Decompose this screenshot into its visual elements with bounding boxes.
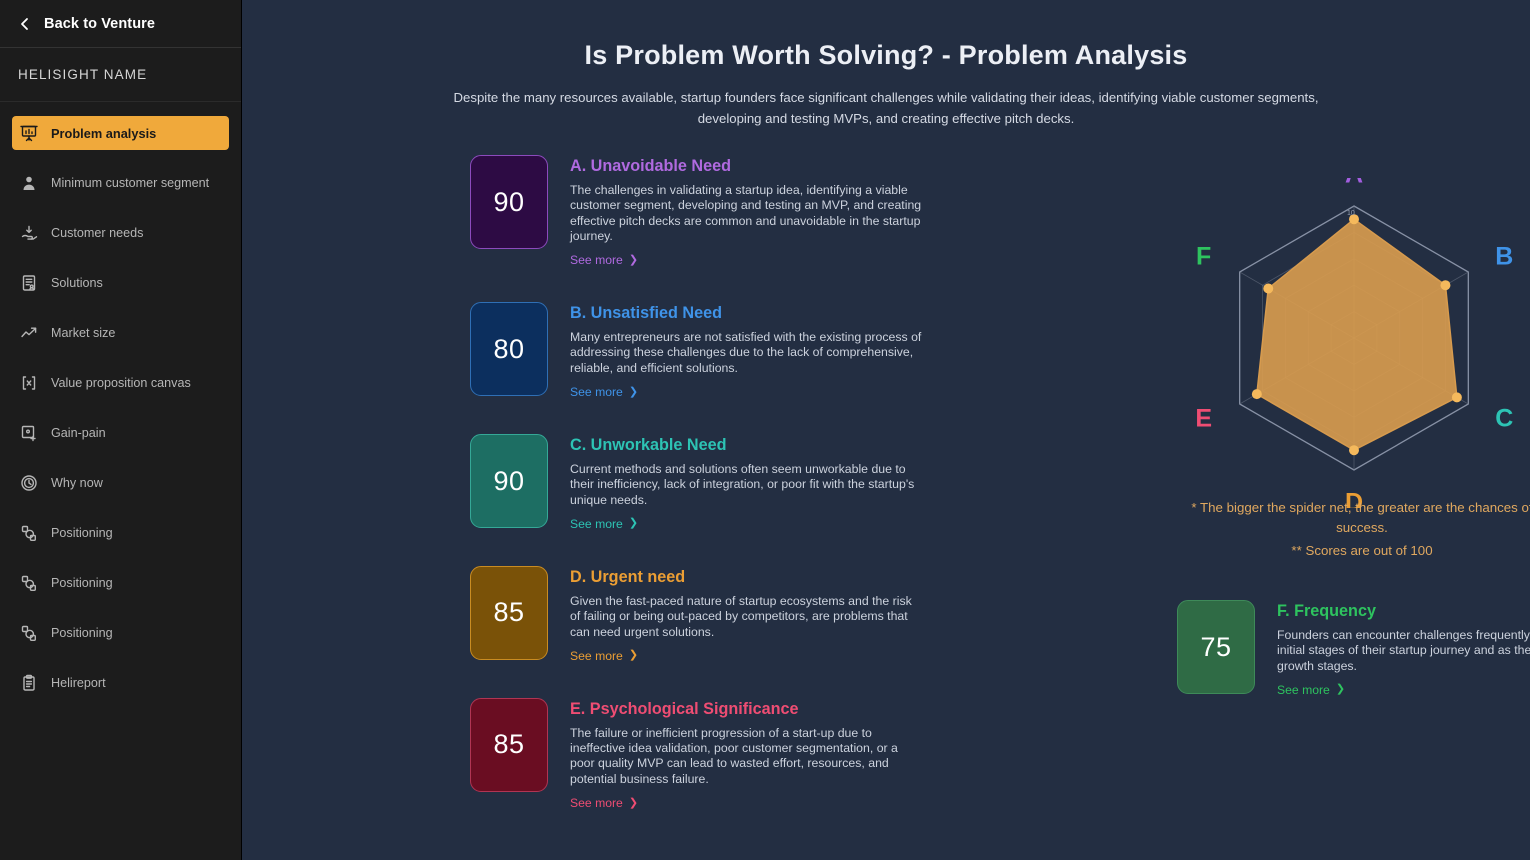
radar-point-c	[1452, 392, 1462, 402]
card-body: A. Unavoidable NeedThe challenges in val…	[570, 155, 922, 269]
square-plus-icon	[20, 424, 38, 442]
card-title: A. Unavoidable Need	[570, 157, 922, 176]
see-more-link-a[interactable]: See more❯	[570, 253, 638, 267]
sidebar-item-label: Why now	[51, 476, 103, 490]
sidebar: Back to Venture HELISIGHT NAME Problem a…	[0, 0, 242, 860]
sidebar-item-customer-needs[interactable]: Customer needs	[12, 216, 229, 250]
radar-axis-label-c: C	[1495, 405, 1513, 433]
sidebar-item-helireport[interactable]: Helireport	[12, 666, 229, 700]
card-title: D. Urgent need	[570, 568, 922, 587]
see-more-link-d[interactable]: See more❯	[570, 649, 638, 663]
shapes-icon	[20, 524, 38, 542]
chevron-right-icon: ❯	[629, 255, 638, 266]
see-more-link-f[interactable]: See more❯	[1277, 683, 1345, 697]
score-badge-f: 75	[1177, 600, 1255, 694]
shapes-icon	[20, 624, 38, 642]
sidebar-item-label: Value proposition canvas	[51, 376, 191, 390]
chevron-right-icon: ❯	[629, 650, 638, 661]
clipboard-icon	[20, 674, 38, 692]
main-panel: Is Problem Worth Solving? - Problem Anal…	[242, 0, 1530, 860]
see-more-link-e[interactable]: See more❯	[570, 796, 638, 810]
sidebar-item-market-size[interactable]: Market size	[12, 316, 229, 350]
trend-up-arrow-icon	[20, 324, 38, 342]
sidebar-item-label: Positioning	[51, 576, 113, 590]
see-more-label: See more	[570, 385, 623, 399]
card-description: The failure or inefficient progression o…	[570, 726, 922, 787]
card-body: B. Unsatisfied NeedMany entrepreneurs ar…	[570, 302, 922, 401]
see-more-label: See more	[1277, 683, 1330, 697]
see-more-link-b[interactable]: See more❯	[570, 385, 638, 399]
problem-card-f: 75F. FrequencyFounders can encounter cha…	[1177, 600, 1530, 699]
sidebar-item-label: Market size	[51, 326, 115, 340]
chevron-left-icon	[18, 17, 32, 31]
score-badge-e: 85	[470, 698, 548, 792]
card-title: F. Frequency	[1277, 602, 1530, 621]
sidebar-item-label: Minimum customer segment	[51, 176, 209, 190]
person-icon	[20, 174, 38, 192]
card-body: E. Psychological SignificanceThe failure…	[570, 698, 922, 812]
see-more-label: See more	[570, 796, 623, 810]
chart-footnotes: * The bigger the spider net, the greater…	[1172, 498, 1530, 561]
chevron-right-icon: ❯	[629, 798, 638, 809]
score-value: 85	[493, 597, 524, 628]
sidebar-nav: Problem analysisMinimum customer segment…	[0, 102, 241, 700]
score-badge-a: 90	[470, 155, 548, 249]
sidebar-item-why-now[interactable]: Why now	[12, 466, 229, 500]
sidebar-item-label: Positioning	[51, 626, 113, 640]
sidebar-item-gain-pain[interactable]: Gain-pain	[12, 416, 229, 450]
sidebar-item-label: Positioning	[51, 526, 113, 540]
back-to-venture-button[interactable]: Back to Venture	[0, 0, 241, 48]
shapes-icon	[20, 574, 38, 592]
score-value: 75	[1200, 632, 1231, 663]
radar-point-d	[1349, 445, 1359, 455]
card-description: The challenges in validating a startup i…	[570, 183, 922, 244]
chart-footnote-1: * The bigger the spider net, the greater…	[1191, 500, 1530, 535]
radar-axis-label-e: E	[1195, 405, 1212, 433]
card-description: Founders can encounter challenges freque…	[1277, 628, 1530, 674]
card-body: D. Urgent needGiven the fast-paced natur…	[570, 566, 922, 665]
bracket-x-icon	[20, 374, 38, 392]
card-description: Current methods and solutions often seem…	[570, 462, 922, 508]
radar-point-b	[1440, 280, 1450, 290]
see-more-label: See more	[570, 253, 623, 267]
score-badge-b: 80	[470, 302, 548, 396]
document-person-icon	[20, 274, 38, 292]
back-to-venture-label: Back to Venture	[44, 16, 155, 32]
chevron-right-icon: ❯	[1336, 684, 1345, 695]
card-body: C. Unworkable NeedCurrent methods and so…	[570, 434, 922, 533]
see-more-label: See more	[570, 517, 623, 531]
sidebar-item-positioning[interactable]: Positioning	[12, 616, 229, 650]
chevron-right-icon: ❯	[629, 387, 638, 398]
problem-card-e: 85E. Psychological SignificanceThe failu…	[470, 698, 1500, 812]
score-badge-d: 85	[470, 566, 548, 660]
chevron-right-icon: ❯	[629, 518, 638, 529]
radar-point-f	[1263, 284, 1273, 294]
score-badge-c: 90	[470, 434, 548, 528]
sidebar-item-positioning[interactable]: Positioning	[12, 566, 229, 600]
radar-axis-label-f: F	[1196, 243, 1211, 271]
hand-download-icon	[20, 224, 38, 242]
clock-icon	[20, 474, 38, 492]
radar-axis-label-a: A	[1345, 178, 1363, 189]
sidebar-item-label: Problem analysis	[51, 126, 156, 141]
card-title: E. Psychological Significance	[570, 700, 922, 719]
radar-axis-tick: 10	[1347, 210, 1355, 217]
sidebar-item-label: Solutions	[51, 276, 103, 290]
card-title: C. Unworkable Need	[570, 436, 922, 455]
presentation-chart-icon	[20, 124, 38, 142]
card-title: B. Unsatisfied Need	[570, 304, 922, 323]
card-description: Given the fast-paced nature of startup e…	[570, 594, 922, 640]
see-more-label: See more	[570, 649, 623, 663]
sidebar-item-value-proposition-canvas[interactable]: Value proposition canvas	[12, 366, 229, 400]
page-title: Is Problem Worth Solving? - Problem Anal…	[242, 40, 1530, 71]
chart-footnote-2: ** Scores are out of 100	[1172, 541, 1530, 561]
card-description: Many entrepreneurs are not satisfied wit…	[570, 330, 922, 376]
workspace-name: HELISIGHT NAME	[0, 48, 241, 102]
sidebar-item-label: Helireport	[51, 676, 106, 690]
see-more-link-c[interactable]: See more❯	[570, 517, 638, 531]
page-subtitle: Despite the many resources available, st…	[436, 87, 1336, 129]
sidebar-item-minimum-customer-segment[interactable]: Minimum customer segment	[12, 166, 229, 200]
score-value: 90	[493, 466, 524, 497]
radar-svg: 10ABCDEF	[1172, 178, 1530, 508]
sidebar-item-solutions[interactable]: Solutions	[12, 266, 229, 300]
score-value: 90	[493, 187, 524, 218]
score-value: 85	[493, 729, 524, 760]
score-value: 80	[493, 334, 524, 365]
sidebar-item-label: Gain-pain	[51, 426, 106, 440]
sidebar-item-label: Customer needs	[51, 226, 143, 240]
sidebar-item-problem-analysis[interactable]: Problem analysis	[12, 116, 229, 150]
radar-point-e	[1252, 389, 1262, 399]
app-root: Back to Venture HELISIGHT NAME Problem a…	[0, 0, 1530, 860]
sidebar-item-positioning[interactable]: Positioning	[12, 516, 229, 550]
radar-axis-label-b: B	[1495, 243, 1513, 271]
card-body: F. FrequencyFounders can encounter chall…	[1277, 600, 1530, 699]
